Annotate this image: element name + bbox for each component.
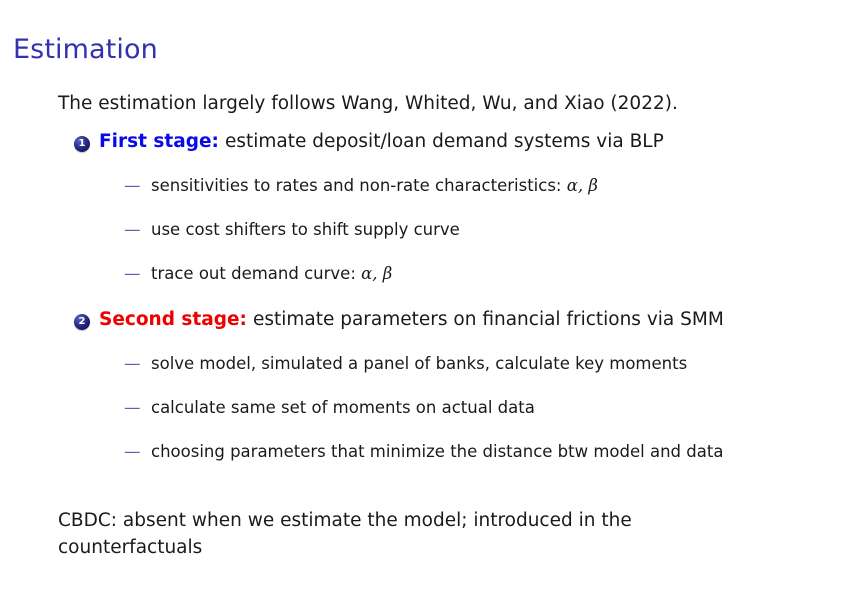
greek-symbols: α, β bbox=[361, 264, 392, 283]
em-dash-icon: — bbox=[124, 397, 140, 419]
stage-text-first: estimate deposit/loan demand systems via… bbox=[225, 131, 664, 152]
sub-bullet-text: sensitivities to rates and non-rate char… bbox=[151, 176, 567, 195]
sub-bullet-item: —choosing parameters that minimize the d… bbox=[124, 441, 723, 463]
stage-label-second: Second stage: bbox=[99, 309, 247, 330]
enumerated-item-first-stage: 1First stage:estimate deposit/loan deman… bbox=[74, 130, 664, 154]
em-dash-icon: — bbox=[124, 353, 140, 375]
presentation-slide: Estimation The estimation largely follow… bbox=[0, 0, 865, 593]
sub-bullet-text: trace out demand curve: bbox=[151, 264, 361, 283]
greek-symbols: α, β bbox=[567, 176, 598, 195]
sub-bullet-text: calculate same set of moments on actual … bbox=[151, 398, 535, 417]
em-dash-icon: — bbox=[124, 219, 140, 241]
number-bullet-icon: 2 bbox=[74, 314, 90, 330]
enumerated-item-second-stage: 2Second stage:estimate parameters on fin… bbox=[74, 308, 724, 332]
sub-bullet-item: —trace out demand curve: α, β bbox=[124, 263, 392, 285]
sub-bullet-item: —sensitivities to rates and non-rate cha… bbox=[124, 175, 598, 197]
sub-bullet-text: choosing parameters that minimize the di… bbox=[151, 442, 723, 461]
em-dash-icon: — bbox=[124, 263, 140, 285]
sub-bullet-item: —use cost shifters to shift supply curve bbox=[124, 219, 460, 241]
intro-text: The estimation largely follows Wang, Whi… bbox=[58, 92, 678, 116]
stage-label-first: First stage: bbox=[99, 131, 219, 152]
sub-bullet-item: —solve model, simulated a panel of banks… bbox=[124, 353, 687, 375]
em-dash-icon: — bbox=[124, 175, 140, 197]
closing-paragraph: CBDC: absent when we estimate the model;… bbox=[58, 507, 738, 561]
number-bullet-icon: 1 bbox=[74, 136, 90, 152]
stage-text-second: estimate parameters on financial frictio… bbox=[253, 309, 724, 330]
sub-bullet-text: use cost shifters to shift supply curve bbox=[151, 220, 460, 239]
sub-bullet-text: solve model, simulated a panel of banks,… bbox=[151, 354, 687, 373]
page-title: Estimation bbox=[13, 33, 158, 67]
em-dash-icon: — bbox=[124, 441, 140, 463]
sub-bullet-item: —calculate same set of moments on actual… bbox=[124, 397, 535, 419]
